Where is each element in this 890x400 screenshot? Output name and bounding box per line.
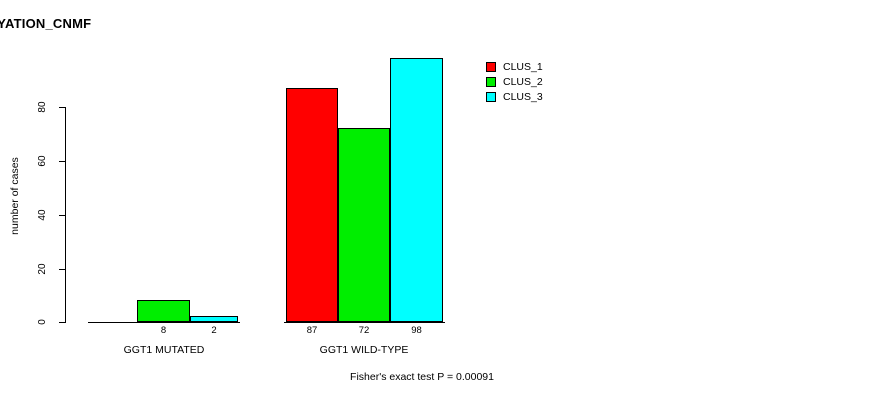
chart-title: METHLYATION_CNMF (0, 16, 890, 31)
bar-mutated-clus3 (190, 316, 238, 322)
y-tick-mark-20 (59, 269, 65, 270)
group-label-wildtype: GGT1 WILD-TYPE (264, 344, 464, 356)
bar-value-label-mutated-clus3: 2 (190, 326, 238, 336)
bar-value-label-wildtype-clus2: 72 (338, 326, 390, 336)
footer-annotation-text: Fisher's exact test P = 0.00091 (350, 371, 494, 383)
y-axis-line (65, 107, 66, 323)
bar-value-label-wildtype-clus1: 87 (286, 326, 338, 336)
group-baseline-wildtype (284, 322, 445, 323)
footer-annotation: Fisher's exact test P = 0.00091 (0, 371, 890, 383)
legend-swatch-icon-clus2 (486, 77, 496, 87)
bar-mutated-clus2 (137, 300, 190, 322)
y-tick-label-20: 20 (31, 262, 55, 276)
y-tick-mark-0 (59, 322, 65, 323)
barplot-figure: METHLYATION_CNMF 80 60 40 20 0 number of… (0, 0, 890, 400)
group-baseline-mutated (88, 322, 240, 323)
bar-value-label-mutated-clus2: 8 (137, 326, 190, 336)
legend-label-clus2: CLUS_2 (503, 77, 543, 88)
group-label-mutated: GGT1 MUTATED (64, 344, 264, 356)
legend-item-clus2: CLUS_2 (486, 75, 543, 89)
y-axis-title: number of cases (9, 131, 21, 261)
legend-label-clus3: CLUS_3 (503, 92, 543, 103)
legend: CLUS_1 CLUS_2 CLUS_3 (486, 60, 543, 105)
bar-value-label-wildtype-clus3: 98 (390, 326, 443, 336)
y-tick-label-0: 0 (31, 315, 55, 329)
y-tick-mark-80 (59, 107, 65, 108)
y-tick-label-40: 40 (31, 208, 55, 222)
y-tick-mark-60 (59, 161, 65, 162)
legend-swatch-icon-clus1 (486, 62, 496, 72)
bar-wildtype-clus2 (338, 128, 390, 322)
y-tick-label-80: 80 (31, 100, 55, 114)
bar-wildtype-clus3 (390, 58, 443, 322)
legend-swatch-icon-clus3 (486, 92, 496, 102)
legend-label-clus1: CLUS_1 (503, 62, 543, 73)
legend-item-clus3: CLUS_3 (486, 90, 543, 104)
y-tick-label-60: 60 (31, 154, 55, 168)
legend-item-clus1: CLUS_1 (486, 60, 543, 74)
y-tick-mark-40 (59, 215, 65, 216)
chart-title-text: METHLYATION_CNMF (0, 16, 91, 31)
bar-wildtype-clus1 (286, 88, 338, 322)
